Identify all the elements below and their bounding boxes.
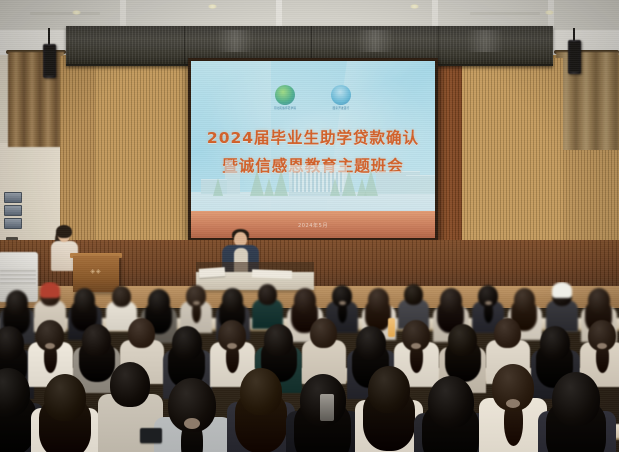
hair-tie bbox=[227, 343, 237, 349]
audience-person-head bbox=[588, 288, 610, 313]
slide-campus-illustration bbox=[191, 144, 435, 212]
audience-person-head bbox=[44, 374, 86, 421]
hair-tie bbox=[45, 343, 55, 349]
audience-person-head bbox=[6, 290, 28, 315]
documents-sheet bbox=[252, 269, 292, 278]
wall-speaker-right bbox=[568, 40, 581, 74]
hair-tie bbox=[485, 301, 492, 305]
hair-tie bbox=[184, 418, 200, 429]
baseball-cap bbox=[40, 282, 60, 298]
audience-person-head bbox=[264, 324, 293, 356]
audience-person-head bbox=[310, 318, 337, 348]
university-logo-caption: 河北民族师范学院 bbox=[268, 107, 302, 111]
lecture-hall-photo: 河北民族师范学院 国家开发银行 2024届毕业生助学贷款确认 暨诚信感恩教育主题… bbox=[0, 0, 619, 452]
audience-person-head bbox=[540, 326, 570, 360]
audience-person-head bbox=[356, 326, 386, 360]
audience-person-head bbox=[494, 318, 521, 348]
audience-person-head bbox=[74, 288, 95, 312]
hair-tie bbox=[193, 301, 200, 305]
university-logo: 河北民族师范学院 bbox=[268, 85, 302, 111]
audience-person-head bbox=[172, 326, 202, 360]
bank-logo: 国家开发银行 bbox=[324, 85, 358, 111]
audience-area bbox=[0, 282, 619, 452]
baseball-cap bbox=[552, 282, 572, 298]
wall-control-panel[interactable] bbox=[4, 205, 22, 216]
audience-person-head bbox=[148, 289, 170, 314]
audience-person-head bbox=[428, 376, 474, 428]
audience-person-head bbox=[110, 362, 150, 407]
audience-person-head bbox=[552, 372, 600, 426]
hair-tie bbox=[411, 343, 421, 349]
audience-person-head bbox=[82, 324, 111, 356]
audience-person-head bbox=[222, 288, 243, 312]
ceiling-downlight bbox=[410, 4, 419, 9]
audience-person-head bbox=[404, 284, 423, 305]
audience-person-head bbox=[128, 318, 155, 348]
wall-control-panel[interactable] bbox=[4, 192, 22, 203]
ceiling-downlight bbox=[545, 10, 554, 15]
audience-person-head bbox=[448, 324, 477, 356]
audience-person-head bbox=[514, 288, 535, 312]
documents-stack bbox=[199, 267, 226, 278]
tablet-device[interactable] bbox=[140, 428, 162, 443]
presenter-hair bbox=[56, 225, 72, 238]
bank-logo-caption: 国家开发银行 bbox=[324, 107, 358, 111]
audience-person-head bbox=[240, 368, 282, 415]
slide-date: 2024年5月 bbox=[191, 222, 435, 229]
audience-person-head bbox=[440, 288, 462, 313]
slide-logos: 河北民族师范学院 国家开发银行 bbox=[191, 85, 435, 111]
audience-person-head bbox=[258, 284, 277, 305]
podium-emblem: ◈◈ bbox=[90, 268, 101, 275]
hair-tie bbox=[339, 301, 346, 305]
projection-screen: 河北民族师范学院 国家开发银行 2024届毕业生助学贷款确认 暨诚信感恩教育主题… bbox=[191, 61, 435, 238]
audience-person-head bbox=[112, 286, 131, 307]
ceiling-downlight bbox=[72, 10, 81, 15]
audience-person-head bbox=[0, 326, 24, 360]
water-bottle bbox=[388, 318, 395, 337]
wall-speaker-left bbox=[43, 44, 56, 78]
audience-person-head bbox=[368, 366, 410, 413]
wall-control-panel[interactable] bbox=[4, 218, 22, 229]
audience-person-head bbox=[294, 288, 316, 313]
audience-person-head bbox=[368, 288, 389, 312]
hair-tie bbox=[506, 399, 520, 408]
hair-tie bbox=[597, 343, 607, 349]
ceiling-downlight bbox=[208, 4, 217, 9]
hair-clip bbox=[320, 394, 334, 421]
